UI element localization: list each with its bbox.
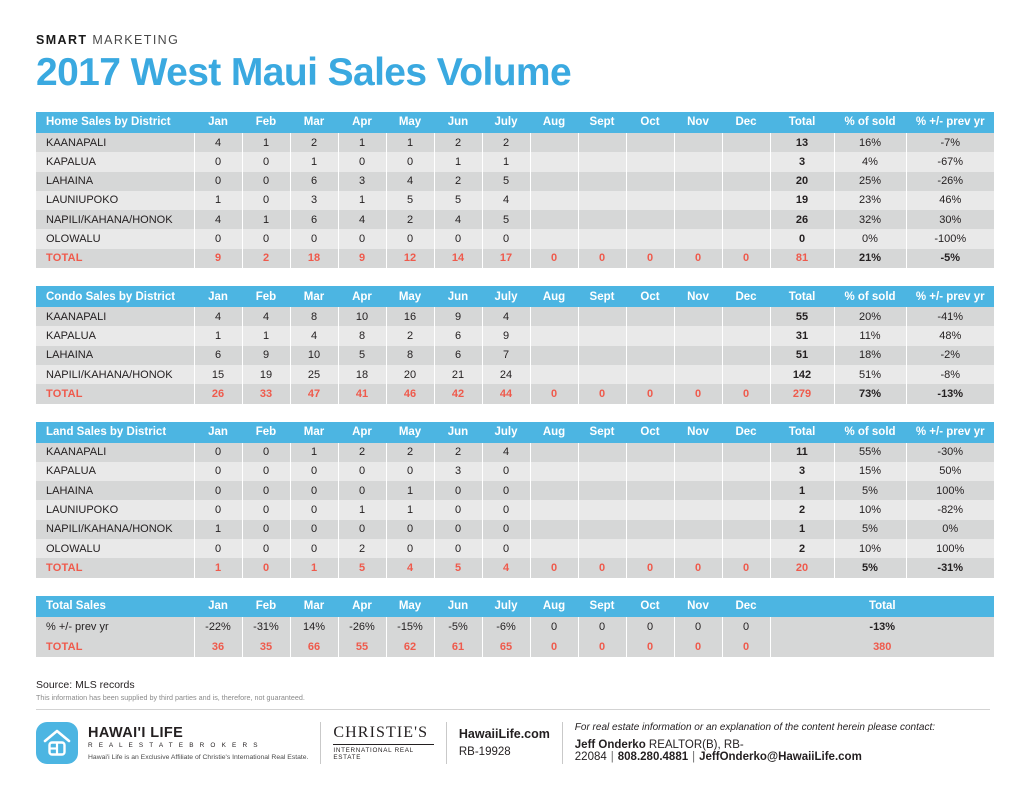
cell-july: -6% <box>482 617 530 637</box>
cell-jun: 0 <box>434 520 482 539</box>
cell-mar: 25 <box>290 365 338 384</box>
cell-feb: 9 <box>242 346 290 365</box>
column-header-dec: Dec <box>722 286 770 307</box>
cell-pct-prev-yr: 30% <box>906 210 994 229</box>
cell-total-feb: 33 <box>242 384 290 403</box>
cell-grand-total: 81 <box>770 249 834 268</box>
cell-total-jan: 9 <box>194 249 242 268</box>
cell-jun: 0 <box>434 481 482 500</box>
column-header-summary-1: % of sold <box>834 422 906 443</box>
cell-dec <box>722 229 770 248</box>
cell-july: 0 <box>482 481 530 500</box>
cell-may: 8 <box>386 346 434 365</box>
cell-pct-prev-yr: 46% <box>906 191 994 210</box>
cell-jan: 6 <box>194 346 242 365</box>
column-header-oct: Oct <box>626 112 674 133</box>
column-header-sept: Sept <box>578 286 626 307</box>
cell-jun: 3 <box>434 462 482 481</box>
column-header-jun: Jun <box>434 286 482 307</box>
column-header-nov: Nov <box>674 286 722 307</box>
cell-pct-prev-yr: 100% <box>906 481 994 500</box>
cell-total-pct-of-sold: 73% <box>834 384 906 403</box>
tables-container: Home Sales by DistrictJanFebMarAprMayJun… <box>36 112 990 657</box>
cell-pct-prev-yr: -2% <box>906 346 994 365</box>
cell-nov <box>674 462 722 481</box>
hawaii-life-name: HAWAI'I LIFE <box>88 725 308 741</box>
cell-pct-of-sold: 10% <box>834 539 906 558</box>
cell-feb: 0 <box>242 152 290 171</box>
column-header-sept: Sept <box>578 112 626 133</box>
cell-nov <box>674 500 722 519</box>
contact-sep-2: | <box>692 751 695 763</box>
row-label: OLOWALU <box>36 229 194 248</box>
christies-subtitle: INTERNATIONAL REAL ESTATE <box>333 747 434 761</box>
table-row: KAPALUA11482693111%48% <box>36 326 994 345</box>
table-header-row: Total SalesJanFebMarAprMayJunJulyAugSept… <box>36 596 994 617</box>
column-header-mar: Mar <box>290 286 338 307</box>
table-row: LAUNIUPOKO10315541923%46% <box>36 191 994 210</box>
column-header-aug: Aug <box>530 596 578 617</box>
cell-apr: 0 <box>338 229 386 248</box>
cell-grand-total: 20 <box>770 558 834 577</box>
column-header-sept: Sept <box>578 596 626 617</box>
cell-jun: 6 <box>434 346 482 365</box>
cell-apr: -26% <box>338 617 386 637</box>
cell-total: 1 <box>770 520 834 539</box>
contact-details: Jeff Onderko REALTOR(B), RB-22084|808.28… <box>575 739 990 763</box>
column-header-dec: Dec <box>722 596 770 617</box>
cell-total-pct-of-sold: 21% <box>834 249 906 268</box>
cell-pct-prev-yr: -30% <box>906 443 994 462</box>
column-header-total-sales: Total Sales <box>36 596 194 617</box>
column-header-grand-total: Total <box>770 596 994 617</box>
cell-jan: 0 <box>194 539 242 558</box>
cell-mar: 0 <box>290 229 338 248</box>
cell-apr: 2 <box>338 539 386 558</box>
cell-nov <box>674 172 722 191</box>
cell-jan: 15 <box>194 365 242 384</box>
agent-name: Jeff Onderko <box>575 739 646 751</box>
cell-jan: 0 <box>194 152 242 171</box>
table-row: KAANAPALI4481016945520%-41% <box>36 307 994 326</box>
column-header-sept: Sept <box>578 422 626 443</box>
cell-aug <box>530 210 578 229</box>
column-header-apr: Apr <box>338 596 386 617</box>
cell-apr: 1 <box>338 191 386 210</box>
cell-total-sept: 0 <box>578 558 626 577</box>
row-label: OLOWALU <box>36 539 194 558</box>
cell-total: 0 <box>770 229 834 248</box>
cell-jan: 0 <box>194 172 242 191</box>
cell-pct-of-sold: 51% <box>834 365 906 384</box>
christies-name: CHRISTIE'S <box>333 724 434 742</box>
cell-total-pct-prev-yr: -13% <box>906 384 994 403</box>
cell-total-jun: 5 <box>434 558 482 577</box>
footer-sep-2 <box>446 722 447 764</box>
row-label: KAPALUA <box>36 326 194 345</box>
cell-sept <box>578 152 626 171</box>
cell-oct <box>626 326 674 345</box>
cell-total: 3 <box>770 462 834 481</box>
row-label-total: TOTAL <box>36 637 194 657</box>
column-header-may: May <box>386 112 434 133</box>
agent-phone[interactable]: 808.280.4881 <box>618 751 688 763</box>
cell-may: 0 <box>386 229 434 248</box>
table-row: NAPILI/KAHANA/HONOK1519251820212414251%-… <box>36 365 994 384</box>
cell-oct <box>626 210 674 229</box>
cell-jan: 0 <box>194 443 242 462</box>
cell-jun: 5 <box>434 191 482 210</box>
cell-feb: 0 <box>242 539 290 558</box>
cell-aug <box>530 133 578 152</box>
cell-may: 0 <box>386 520 434 539</box>
cell-total-nov: 0 <box>674 558 722 577</box>
contact-sep-1: | <box>611 751 614 763</box>
cell-pct-prev-yr: -100% <box>906 229 994 248</box>
cell-mar: 1 <box>290 152 338 171</box>
cell-total-jan: 1 <box>194 558 242 577</box>
column-header-feb: Feb <box>242 112 290 133</box>
cell-oct <box>626 229 674 248</box>
cell-nov <box>674 443 722 462</box>
cell-dec <box>722 172 770 191</box>
cell-oct <box>626 191 674 210</box>
cell-mar: 2 <box>290 133 338 152</box>
cell-aug <box>530 365 578 384</box>
cell-total: 11 <box>770 443 834 462</box>
table-total-row: TOTAL101545400000205%-31% <box>36 558 994 577</box>
source-note: Source: MLS records <box>36 679 990 691</box>
cell-nov <box>674 210 722 229</box>
cell-pct-of-sold: 11% <box>834 326 906 345</box>
cell-aug: 0 <box>530 617 578 637</box>
cell-aug <box>530 307 578 326</box>
cell-total-sept: 0 <box>578 249 626 268</box>
cell-may: -15% <box>386 617 434 637</box>
cell-total-sept: 0 <box>578 637 626 657</box>
cell-jun: 2 <box>434 172 482 191</box>
column-header-summary-1: % of sold <box>834 112 906 133</box>
cell-mar: 1 <box>290 443 338 462</box>
row-label-total: TOTAL <box>36 249 194 268</box>
column-header-apr: Apr <box>338 286 386 307</box>
cell-aug <box>530 191 578 210</box>
cell-may: 1 <box>386 500 434 519</box>
cell-feb: 0 <box>242 172 290 191</box>
cell-pct-of-sold: 0% <box>834 229 906 248</box>
cell-jan: 0 <box>194 481 242 500</box>
column-header-jan: Jan <box>194 422 242 443</box>
cell-total: 142 <box>770 365 834 384</box>
cell-apr: 0 <box>338 462 386 481</box>
cell-total-apr: 55 <box>338 637 386 657</box>
row-label: % +/- prev yr <box>36 617 194 637</box>
row-label: KAPALUA <box>36 152 194 171</box>
cell-jun: 0 <box>434 229 482 248</box>
cell-july: 4 <box>482 191 530 210</box>
page-title: 2017 West Maui Sales Volume <box>36 53 990 94</box>
cell-oct <box>626 172 674 191</box>
cell-july: 9 <box>482 326 530 345</box>
footer-divider <box>36 709 990 710</box>
brand-eyebrow-light: MARKETING <box>87 33 179 47</box>
cell-total-apr: 9 <box>338 249 386 268</box>
cell-total-dec: 0 <box>722 384 770 403</box>
table-row: NAPILI/KAHANA/HONOK41642452632%30% <box>36 210 994 229</box>
column-header-jun: Jun <box>434 112 482 133</box>
cell-feb: 0 <box>242 500 290 519</box>
footer-sep-3 <box>562 722 563 764</box>
cell-pct-of-sold: 32% <box>834 210 906 229</box>
table-header-row: Land Sales by DistrictJanFebMarAprMayJun… <box>36 422 994 443</box>
cell-total-apr: 5 <box>338 558 386 577</box>
cell-pct-of-sold: 5% <box>834 520 906 539</box>
cell-feb: 0 <box>242 229 290 248</box>
cell-total-dec: 0 <box>722 637 770 657</box>
row-label: LAUNIUPOKO <box>36 500 194 519</box>
cell-pct-of-sold: 4% <box>834 152 906 171</box>
cell-oct <box>626 133 674 152</box>
cell-pct-of-sold: 18% <box>834 346 906 365</box>
cell-nov <box>674 133 722 152</box>
brand-eyebrow-bold: SMART <box>36 33 87 47</box>
cell-oct <box>626 539 674 558</box>
cell-total-jun: 61 <box>434 637 482 657</box>
table-header-row: Condo Sales by DistrictJanFebMarAprMayJu… <box>36 286 994 307</box>
contact-block: For real estate information or an explan… <box>575 722 990 763</box>
cell-nov <box>674 520 722 539</box>
column-header-oct: Oct <box>626 422 674 443</box>
cell-mar: 6 <box>290 210 338 229</box>
sales-table-home-sales: Home Sales by DistrictJanFebMarAprMayJun… <box>36 112 994 268</box>
cell-july: 24 <box>482 365 530 384</box>
cell-mar: 14% <box>290 617 338 637</box>
column-header-district: Condo Sales by District <box>36 286 194 307</box>
cell-total-mar: 66 <box>290 637 338 657</box>
cell-july: 1 <box>482 152 530 171</box>
cell-dec <box>722 346 770 365</box>
cell-jun: 9 <box>434 307 482 326</box>
brand-eyebrow: SMART MARKETING <box>36 0 990 47</box>
cell-mar: 6 <box>290 172 338 191</box>
cell-sept <box>578 500 626 519</box>
cell-pct-prev-yr: -26% <box>906 172 994 191</box>
cell-jan: 0 <box>194 462 242 481</box>
site-block: HawaiiLife.com RB-19928 <box>459 727 550 758</box>
cell-aug <box>530 500 578 519</box>
cell-jan: 4 <box>194 210 242 229</box>
cell-total-aug: 0 <box>530 384 578 403</box>
footer: HAWAI'I LIFE R E A L E S T A T E B R O K… <box>36 722 990 764</box>
cell-mar: 8 <box>290 307 338 326</box>
cell-total-july: 65 <box>482 637 530 657</box>
cell-sept <box>578 481 626 500</box>
cell-feb: 0 <box>242 443 290 462</box>
cell-mar: 4 <box>290 326 338 345</box>
cell-aug <box>530 326 578 345</box>
cell-oct <box>626 500 674 519</box>
column-header-nov: Nov <box>674 112 722 133</box>
cell-nov <box>674 481 722 500</box>
cell-apr: 2 <box>338 443 386 462</box>
cell-oct <box>626 365 674 384</box>
column-header-may: May <box>386 596 434 617</box>
cell-may: 0 <box>386 152 434 171</box>
table-total-row: TOTAL3635665562616500000380 <box>36 637 994 657</box>
hawaii-life-affiliate: Hawai'i Life is an Exclusive Affiliate o… <box>88 754 308 761</box>
column-header-apr: Apr <box>338 422 386 443</box>
cell-nov: 0 <box>674 617 722 637</box>
cell-july: 0 <box>482 229 530 248</box>
cell-july: 5 <box>482 210 530 229</box>
column-header-mar: Mar <box>290 596 338 617</box>
cell-aug <box>530 443 578 462</box>
cell-may: 4 <box>386 172 434 191</box>
cell-dec <box>722 539 770 558</box>
cell-jun: 2 <box>434 443 482 462</box>
column-header-july: July <box>482 286 530 307</box>
cell-sept <box>578 133 626 152</box>
cell-total: 26 <box>770 210 834 229</box>
column-header-jun: Jun <box>434 596 482 617</box>
cell-aug <box>530 152 578 171</box>
cell-total-mar: 18 <box>290 249 338 268</box>
column-header-dec: Dec <box>722 112 770 133</box>
cell-pct-prev-yr: 100% <box>906 539 994 558</box>
cell-feb: 4 <box>242 307 290 326</box>
cell-july: 5 <box>482 172 530 191</box>
row-label: LAHAINA <box>36 172 194 191</box>
cell-apr: 1 <box>338 500 386 519</box>
cell-pct-of-sold: 55% <box>834 443 906 462</box>
cell-july: 0 <box>482 520 530 539</box>
cell-aug <box>530 229 578 248</box>
hawaii-life-house-icon <box>36 722 78 764</box>
cell-jun: -5% <box>434 617 482 637</box>
footer-sep-1 <box>320 722 321 764</box>
cell-july: 0 <box>482 500 530 519</box>
cell-jan: -22% <box>194 617 242 637</box>
table-row: KAANAPALI41211221316%-7% <box>36 133 994 152</box>
cell-aug <box>530 172 578 191</box>
cell-may: 0 <box>386 539 434 558</box>
cell-total: 2 <box>770 500 834 519</box>
cell-grand-total: 380 <box>770 637 994 657</box>
row-label: LAUNIUPOKO <box>36 191 194 210</box>
row-label: LAHAINA <box>36 346 194 365</box>
sales-table-condo-sales: Condo Sales by DistrictJanFebMarAprMayJu… <box>36 286 994 403</box>
column-header-mar: Mar <box>290 112 338 133</box>
cell-total-jun: 42 <box>434 384 482 403</box>
table-row: OLOWALU0002000210%100% <box>36 539 994 558</box>
cell-feb: 0 <box>242 462 290 481</box>
cell-total-pct-prev-yr: -5% <box>906 249 994 268</box>
cell-jun: 0 <box>434 539 482 558</box>
table-row: LAHAINA00634252025%-26% <box>36 172 994 191</box>
christies-wordmark: CHRISTIE'S INTERNATIONAL REAL ESTATE <box>333 724 434 761</box>
cell-mar: 0 <box>290 481 338 500</box>
cell-sept <box>578 346 626 365</box>
cell-pct-of-sold: 23% <box>834 191 906 210</box>
cell-apr: 0 <box>338 152 386 171</box>
column-header-apr: Apr <box>338 112 386 133</box>
cell-oct <box>626 152 674 171</box>
cell-july: 2 <box>482 133 530 152</box>
column-header-aug: Aug <box>530 286 578 307</box>
cell-dec <box>722 443 770 462</box>
column-header-jan: Jan <box>194 286 242 307</box>
cell-dec <box>722 326 770 345</box>
cell-dec <box>722 481 770 500</box>
cell-grand: -13% <box>770 617 994 637</box>
cell-total-feb: 2 <box>242 249 290 268</box>
cell-feb: 0 <box>242 520 290 539</box>
cell-july: 0 <box>482 539 530 558</box>
report-page: SMART MARKETING 2017 West Maui Sales Vol… <box>0 0 1026 790</box>
christies-rule <box>333 744 434 745</box>
cell-dec <box>722 307 770 326</box>
cell-total-nov: 0 <box>674 384 722 403</box>
cell-total: 55 <box>770 307 834 326</box>
cell-may: 20 <box>386 365 434 384</box>
site-url[interactable]: HawaiiLife.com <box>459 727 550 741</box>
cell-aug <box>530 539 578 558</box>
column-header-feb: Feb <box>242 596 290 617</box>
column-header-district: Land Sales by District <box>36 422 194 443</box>
cell-jan: 4 <box>194 307 242 326</box>
contact-lead: For real estate information or an explan… <box>575 722 990 733</box>
cell-july: 7 <box>482 346 530 365</box>
column-header-dec: Dec <box>722 422 770 443</box>
cell-sept: 0 <box>578 617 626 637</box>
cell-pct-of-sold: 10% <box>834 500 906 519</box>
cell-total-mar: 1 <box>290 558 338 577</box>
cell-jan: 4 <box>194 133 242 152</box>
column-header-summary-0: Total <box>770 286 834 307</box>
cell-total: 51 <box>770 346 834 365</box>
cell-sept <box>578 172 626 191</box>
column-header-july: July <box>482 596 530 617</box>
column-header-summary-0: Total <box>770 112 834 133</box>
cell-apr: 3 <box>338 172 386 191</box>
cell-nov <box>674 229 722 248</box>
cell-dec <box>722 152 770 171</box>
cell-apr: 0 <box>338 481 386 500</box>
cell-may: 0 <box>386 462 434 481</box>
cell-sept <box>578 307 626 326</box>
row-label: NAPILI/KAHANA/HONOK <box>36 365 194 384</box>
cell-july: 0 <box>482 462 530 481</box>
cell-may: 16 <box>386 307 434 326</box>
cell-jan: 1 <box>194 520 242 539</box>
table-row: KAANAPALI00122241155%-30% <box>36 443 994 462</box>
table-total-row: TOTAL263347414642440000027973%-13% <box>36 384 994 403</box>
cell-jan: 0 <box>194 229 242 248</box>
column-header-may: May <box>386 422 434 443</box>
table-row: % +/- prev yr-22%-31%14%-26%-15%-5%-6%00… <box>36 617 994 637</box>
agent-email[interactable]: JeffOnderko@HawaiiLife.com <box>699 751 862 763</box>
cell-nov <box>674 152 722 171</box>
column-header-summary-1: % of sold <box>834 286 906 307</box>
cell-pct-prev-yr: 48% <box>906 326 994 345</box>
cell-mar: 3 <box>290 191 338 210</box>
cell-total-may: 46 <box>386 384 434 403</box>
cell-pct-prev-yr: -8% <box>906 365 994 384</box>
column-header-summary-2: % +/- prev yr <box>906 112 994 133</box>
cell-sept <box>578 539 626 558</box>
cell-dec <box>722 365 770 384</box>
cell-july: 4 <box>482 443 530 462</box>
